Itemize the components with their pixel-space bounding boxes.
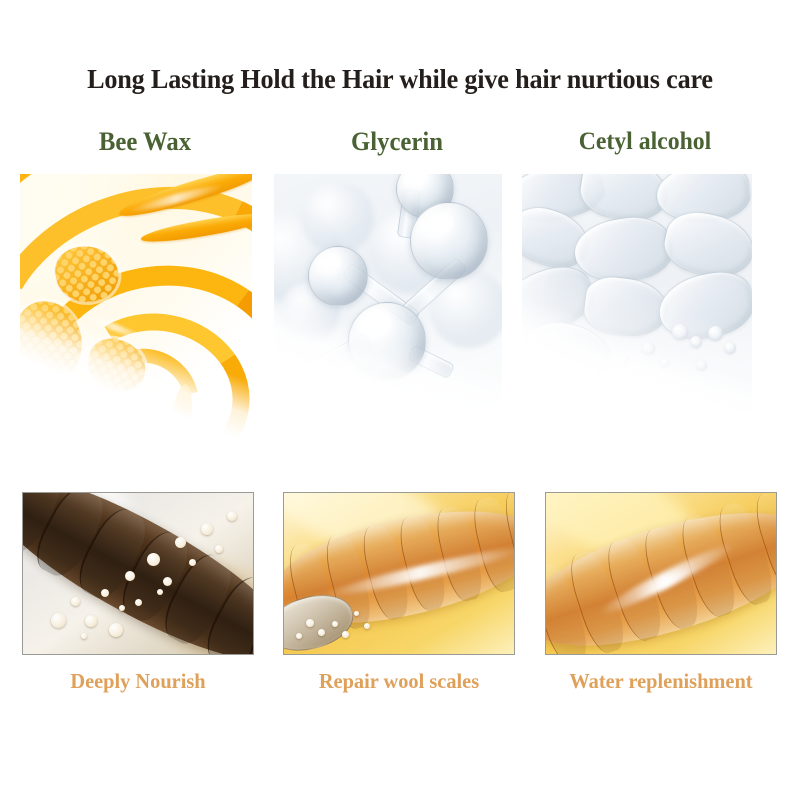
ingredient-card-glycerin: Glycerin <box>272 122 522 492</box>
honey-swirl-with-honeycomb-image <box>20 174 252 474</box>
ingredient-card-bee-wax: Bee Wax <box>20 122 270 492</box>
white-crystal-flakes-image <box>522 174 752 469</box>
page-title: Long Lasting Hold the Hair while give ha… <box>12 62 788 96</box>
benefit-caption: Water replenishment <box>543 667 780 695</box>
benefit-caption: Deeply Nourish <box>20 667 257 695</box>
golden-hair-strand-shine-image <box>545 492 777 655</box>
product-infographic: Long Lasting Hold the Hair while give ha… <box>0 0 800 800</box>
glass-molecule-model-image <box>274 174 502 464</box>
golden-hair-cuticle-closeup-image <box>283 492 515 655</box>
benefit-caption: Repair wool scales <box>281 667 518 695</box>
ingredient-label: Glycerin <box>278 122 516 162</box>
ingredient-row: Bee Wax <box>0 122 800 492</box>
dark-hair-strand-with-droplets-image <box>22 492 254 655</box>
ingredient-label: Cetyl alcohol <box>526 122 764 162</box>
benefit-row: Deeply Nourish <box>0 492 800 707</box>
ingredient-card-cetyl-alcohol: Cetyl alcohol <box>520 122 770 492</box>
ingredient-label: Bee Wax <box>26 122 264 162</box>
